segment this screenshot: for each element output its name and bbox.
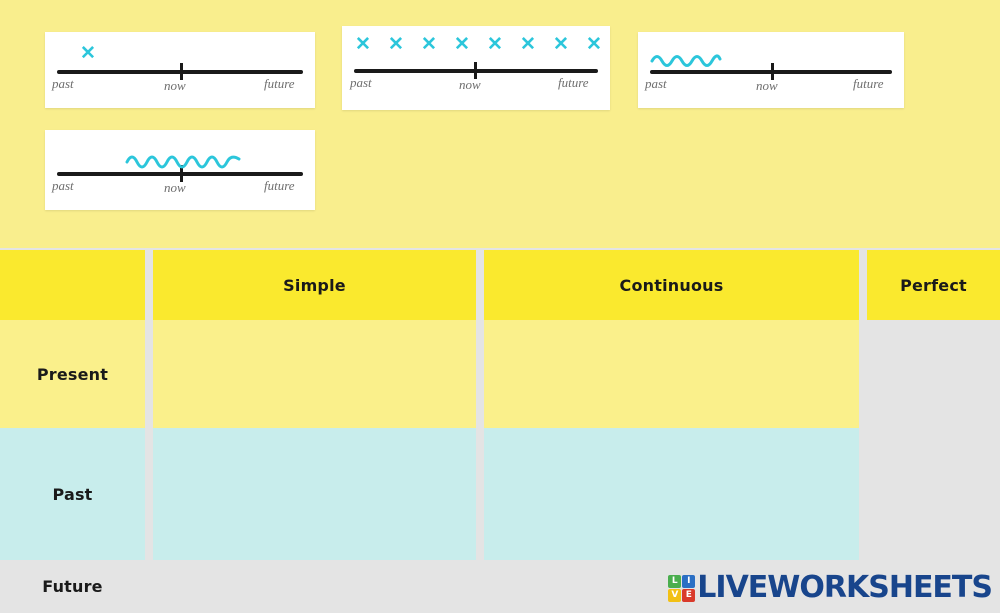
axis-label-past: past <box>52 178 74 194</box>
grid-row-header-present-label: Present <box>37 365 108 384</box>
grid-cell-present-continuous[interactable] <box>484 320 859 428</box>
tenses-grid: Simple Continuous Perfect Present Past F… <box>0 248 1000 613</box>
axis-label-now: now <box>459 77 481 93</box>
grid-header-perfect: Perfect <box>867 250 1000 320</box>
grid-header-continuous-label: Continuous <box>620 276 724 295</box>
axis-label-now: now <box>164 180 186 196</box>
axis-label-past: past <box>645 76 667 92</box>
x-marker-icon: ✕ <box>355 35 371 54</box>
x-marker-icon: ✕ <box>586 35 602 54</box>
x-marker-icon: ✕ <box>421 35 437 54</box>
timeline-card-repeated-x[interactable]: past now future ✕ ✕ ✕ ✕ ✕ ✕ ✕ ✕ <box>342 26 610 110</box>
grid-header-perfect-label: Perfect <box>900 276 967 295</box>
grid-header-continuous: Continuous <box>484 250 859 320</box>
axis-label-past: past <box>52 76 74 92</box>
axis-label-past: past <box>350 75 372 91</box>
x-marker-icon: ✕ <box>388 35 404 54</box>
timeline-card-wave-past-inner: past now future <box>638 32 904 108</box>
badge-tile-i: I <box>682 575 695 588</box>
timeline-card-repeated-x-inner: past now future ✕ ✕ ✕ ✕ ✕ ✕ ✕ ✕ <box>342 26 610 110</box>
grid-cell-past-perfect[interactable] <box>867 428 1000 560</box>
axis-label-future: future <box>264 76 295 92</box>
badge-tile-v: V <box>668 589 681 602</box>
x-marker-icon: ✕ <box>80 44 96 63</box>
x-marker-icon: ✕ <box>454 35 470 54</box>
grid-row-header-future-label: Future <box>42 577 103 596</box>
wave-marker-icon <box>650 49 730 69</box>
timeline-card-wave-past[interactable]: past now future <box>638 32 904 108</box>
liveworksheets-wordmark: LIVEWORKSHEETS <box>697 573 992 603</box>
badge-tile-l: L <box>668 575 681 588</box>
axis-label-now: now <box>164 78 186 94</box>
axis-label-future: future <box>264 178 295 194</box>
grid-cell-past-simple[interactable] <box>153 428 476 560</box>
grid-cell-present-perfect[interactable] <box>867 320 1000 428</box>
timeline-card-single-x[interactable]: past now future ✕ <box>45 32 315 108</box>
timeline-card-wave-now[interactable]: past now future <box>45 130 315 210</box>
grid-header-corner <box>0 250 145 320</box>
grid-row-header-past: Past <box>0 428 145 560</box>
wave-marker-icon <box>125 148 241 170</box>
grid-header-simple-label: Simple <box>283 276 346 295</box>
axis-label-future: future <box>853 76 884 92</box>
liveworksheets-badge-icon: L I V E <box>668 575 695 602</box>
grid-row-header-present: Present <box>0 320 145 428</box>
axis-label-future: future <box>558 75 589 91</box>
grid-cell-future-simple[interactable] <box>153 560 476 613</box>
liveworksheets-logo[interactable]: L I V E LIVEWORKSHEETS <box>668 571 992 605</box>
x-marker-icon: ✕ <box>553 35 569 54</box>
axis-label-now: now <box>756 78 778 94</box>
grid-row-header-future: Future <box>0 560 145 613</box>
grid-row-header-past-label: Past <box>52 485 92 504</box>
grid-header-simple: Simple <box>153 250 476 320</box>
timeline-card-wave-now-inner: past now future <box>45 130 315 210</box>
grid-cell-present-simple[interactable] <box>153 320 476 428</box>
grid-cell-past-continuous[interactable] <box>484 428 859 560</box>
x-marker-icon: ✕ <box>487 35 503 54</box>
badge-tile-e: E <box>682 589 695 602</box>
timeline-card-single-x-inner: past now future ✕ <box>45 32 315 108</box>
x-marker-icon: ✕ <box>520 35 536 54</box>
timeline-cards-area: past now future ✕ past now future ✕ ✕ ✕ … <box>0 0 1000 248</box>
